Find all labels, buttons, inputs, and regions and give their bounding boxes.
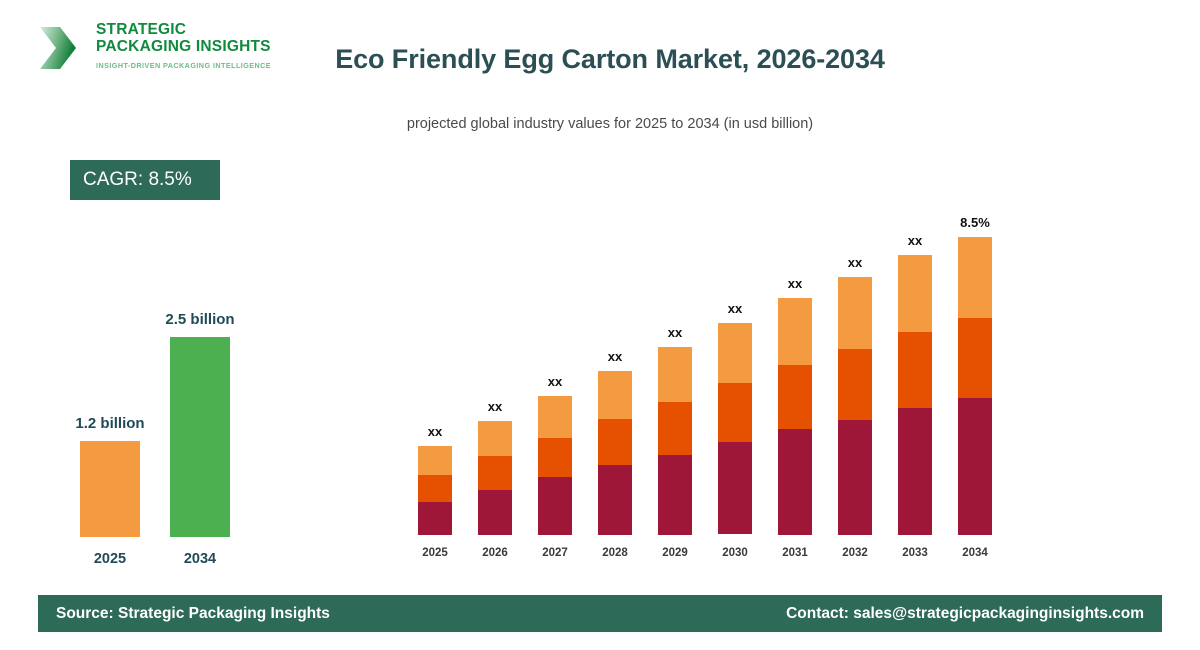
stacked-bar-segment-top[interactable]: [418, 446, 452, 475]
stacked-bar-segment-top[interactable]: [718, 323, 752, 383]
page-title: Eco Friendly Egg Carton Market, 2026-203…: [300, 44, 920, 75]
company-logo: STRATEGIC PACKAGING INSIGHTS INSIGHT-DRI…: [30, 16, 270, 78]
stacked-value-label: xx: [510, 374, 600, 389]
stacked-bar-segment-middle[interactable]: [658, 402, 692, 455]
stacked-bar-segment-top[interactable]: [658, 347, 692, 402]
stacked-bar[interactable]: [958, 237, 992, 535]
stacked-bar-chart: xx2025xx2026xx2027xx2028xx2029xx2030xx20…: [405, 195, 1005, 560]
stacked-value-label: xx: [450, 399, 540, 414]
stacked-bar[interactable]: [898, 255, 932, 535]
stacked-bar-segment-bottom[interactable]: [538, 477, 572, 535]
chart-infographic: STRATEGIC PACKAGING INSIGHTS INSIGHT-DRI…: [0, 0, 1200, 650]
stacked-bar-segment-middle[interactable]: [718, 383, 752, 442]
page-subtitle: projected global industry values for 202…: [300, 116, 920, 132]
footer-bar: Source: Strategic Packaging Insights Con…: [38, 595, 1162, 632]
comparison-value-label: 2.5 billion: [120, 311, 280, 328]
cagr-badge: CAGR: 8.5%: [70, 160, 220, 200]
stacked-bar-segment-bottom[interactable]: [958, 398, 992, 535]
stacked-year-label: 2034: [930, 547, 1020, 559]
logo-line-1: STRATEGIC: [96, 21, 271, 38]
stacked-value-label: xx: [870, 233, 960, 248]
stacked-bar-segment-top[interactable]: [778, 298, 812, 365]
stacked-bar-segment-top[interactable]: [598, 371, 632, 419]
stacked-bar-segment-top[interactable]: [898, 255, 932, 332]
stacked-bar-segment-top[interactable]: [838, 277, 872, 349]
stacked-bar-segment-bottom[interactable]: [718, 442, 752, 534]
stacked-value-label: xx: [810, 255, 900, 270]
stacked-bar[interactable]: [778, 298, 812, 535]
stacked-bar-segment-top[interactable]: [958, 237, 992, 318]
stacked-bar-segment-middle[interactable]: [418, 475, 452, 502]
stacked-bar[interactable]: [718, 323, 752, 535]
stacked-bar-segment-middle[interactable]: [478, 456, 512, 490]
logo-wordmark: STRATEGIC PACKAGING INSIGHTS INSIGHT-DRI…: [96, 21, 271, 70]
stacked-bar[interactable]: [478, 421, 512, 535]
stacked-bar-segment-top[interactable]: [538, 396, 572, 438]
stacked-bar[interactable]: [538, 396, 572, 535]
stacked-bar-segment-middle[interactable]: [898, 332, 932, 408]
footer-contact[interactable]: Contact: sales@strategicpackaginginsight…: [786, 605, 1144, 623]
cagr-badge-label: CAGR: 8.5%: [83, 169, 192, 191]
stacked-value-label: xx: [690, 301, 780, 316]
stacked-bar-segment-top[interactable]: [478, 421, 512, 456]
stacked-bar[interactable]: [838, 277, 872, 535]
logo-line-2: PACKAGING INSIGHTS: [96, 38, 271, 55]
stacked-bar-segment-bottom[interactable]: [838, 420, 872, 535]
stacked-bar-segment-bottom[interactable]: [778, 429, 812, 535]
stacked-bar[interactable]: [418, 446, 452, 535]
comparison-bar-chart: 1.2 billion20252.5 billion2034: [50, 300, 310, 570]
comparison-bar[interactable]: [80, 441, 140, 537]
logo-tagline: INSIGHT-DRIVEN PACKAGING INTELLIGENCE: [96, 61, 271, 70]
stacked-bar-segment-bottom[interactable]: [478, 490, 512, 535]
stacked-bar-segment-middle[interactable]: [538, 438, 572, 478]
stacked-bar[interactable]: [658, 347, 692, 535]
stacked-bar-segment-middle[interactable]: [598, 419, 632, 465]
stacked-bar-segment-bottom[interactable]: [898, 408, 932, 535]
stacked-bar-segment-middle[interactable]: [838, 349, 872, 420]
footer-source: Source: Strategic Packaging Insights: [56, 605, 330, 623]
stacked-value-label: xx: [750, 276, 840, 291]
stacked-bar-segment-bottom[interactable]: [658, 455, 692, 535]
stacked-bar-segment-bottom[interactable]: [418, 502, 452, 535]
comparison-year-label: 2034: [120, 551, 280, 567]
comparison-bar[interactable]: [170, 337, 230, 537]
comparison-value-label: 1.2 billion: [30, 415, 190, 432]
stacked-bar[interactable]: [598, 371, 632, 535]
stacked-bar-segment-middle[interactable]: [958, 318, 992, 398]
stacked-value-label: xx: [390, 424, 480, 439]
stacked-bar-segment-middle[interactable]: [778, 365, 812, 430]
stacked-value-label: xx: [630, 325, 720, 340]
stacked-value-label: 8.5%: [930, 215, 1020, 230]
stacked-bar-segment-bottom[interactable]: [598, 465, 632, 535]
chevron-logo-icon: [30, 20, 86, 76]
stacked-value-label: xx: [570, 349, 660, 364]
